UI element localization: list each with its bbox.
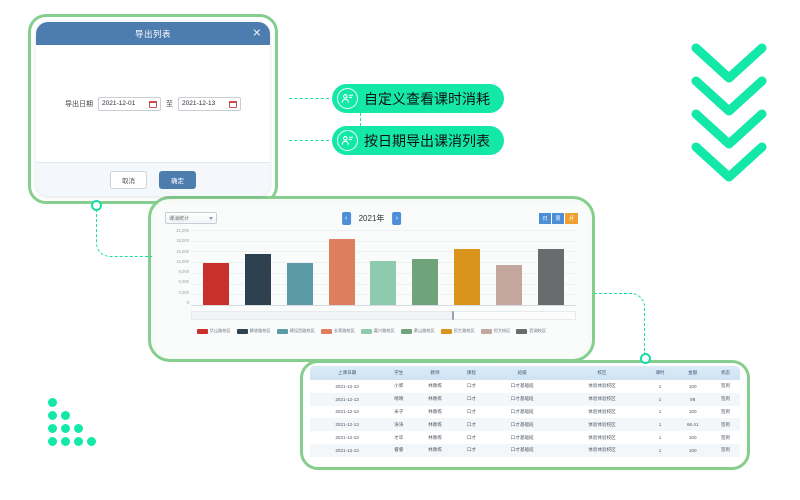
table-cell: 林教练 [413, 431, 457, 444]
table-cell: 1 [646, 380, 675, 393]
legend-item[interactable]: 黄山路校区 [401, 328, 435, 334]
prev-year-button[interactable]: ‹ [342, 212, 351, 225]
table-cell: 才华 [384, 431, 413, 444]
table-cell: 2021-12-13 [310, 418, 384, 431]
chevron-decoration-group [686, 38, 772, 188]
table-column-header[interactable]: 教师 [413, 366, 457, 380]
table-column-header[interactable]: 学生 [384, 366, 413, 380]
y-axis-tick: 3,000 [179, 291, 189, 295]
legend-label: 民生路校区 [454, 328, 475, 334]
y-axis-tick: 0 [187, 301, 189, 305]
year-navigator: ‹ 2021年 › [342, 212, 402, 225]
chart-grid [191, 230, 576, 306]
legend-item[interactable]: 建设西路校区 [277, 328, 315, 334]
callout-pill-custom-view[interactable]: 自定义查看课时消耗 [332, 84, 504, 113]
table-cell: 涛涛 [384, 418, 413, 431]
y-axis: 21,00018,00015,00012,0009,0006,0003,0000 [165, 230, 189, 306]
table-cell: 体验体验校区 [558, 393, 645, 406]
table-cell: 睿睿 [384, 444, 413, 457]
legend-item[interactable]: 民生路校区 [441, 328, 475, 334]
callout-pill-label: 按日期导出课消列表 [364, 131, 490, 151]
table-column-header[interactable]: 课程 [457, 366, 486, 380]
chevron-down-icon [696, 147, 762, 177]
table-cell: 口才基础班 [486, 444, 559, 457]
period-toggle-group: 日周月 [539, 213, 578, 224]
table-row[interactable]: 2021-12-13睿睿林教练口才口才基础班体验体验校区1100签到 [310, 444, 740, 457]
table-cell: 100 [675, 380, 711, 393]
start-date-value: 2021-12-01 [102, 100, 149, 107]
calendar-icon [149, 100, 157, 108]
legend-label: 恒大校区 [494, 328, 511, 334]
y-axis-tick: 18,000 [176, 239, 189, 243]
period-toggle-2[interactable]: 月 [565, 213, 578, 224]
table-cell: 体验体验校区 [558, 431, 645, 444]
bar[interactable] [287, 263, 313, 306]
table-column-header[interactable]: 状态 [711, 366, 740, 380]
bar[interactable] [329, 239, 355, 305]
table-cell: 2021-12-13 [310, 393, 384, 406]
table-cell: 口才 [457, 380, 486, 393]
dialog-title: 导出列表 [135, 28, 171, 40]
table-cell: 口才基础班 [486, 418, 559, 431]
chart-legend: 华山路校区解放路校区建设西路校区长青路校区嘉兴路校区黄山路校区民生路校区恒大校区… [165, 328, 578, 334]
table-row[interactable]: 2021-12-13涛涛林教练口才口才基础班体验体验校区166.41签到 [310, 418, 740, 431]
legend-label: 嘉兴路校区 [374, 328, 395, 334]
chart-filter-select[interactable]: 课消统计 [165, 212, 217, 224]
export-date-row: 导出日期 2021-12-01 至 2021-12-13 [65, 97, 241, 111]
legend-swatch [361, 329, 372, 334]
table-cell: 口才 [457, 393, 486, 406]
connector-path-dialog [96, 211, 152, 257]
y-axis-tick: 15,000 [176, 250, 189, 254]
y-axis-tick: 12,000 [176, 260, 189, 264]
table-cell: 签到 [711, 431, 740, 444]
table-cell: 2021-12-13 [310, 380, 384, 393]
bar[interactable] [412, 259, 438, 305]
table-cell: 2021-12-13 [310, 444, 384, 457]
cancel-button[interactable]: 取消 [110, 171, 147, 189]
table-cell: 米子 [384, 406, 413, 419]
table-cell: 林教练 [413, 418, 457, 431]
table-cell: 体验体验校区 [558, 444, 645, 457]
table-cell: 林教练 [413, 393, 457, 406]
dialog-footer: 取消 确定 [36, 162, 270, 196]
legend-item[interactable]: 华山路校区 [197, 328, 231, 334]
connector-dot-table [640, 353, 651, 364]
legend-swatch [516, 329, 527, 334]
table-cell: 98 [675, 393, 711, 406]
chevron-down-icon [209, 217, 213, 220]
callout-connector-mid [360, 113, 361, 126]
close-icon[interactable]: ✕ [252, 28, 262, 39]
table-row[interactable]: 2021-12-13才华林教练口才口才基础班体验体验校区1100签到 [310, 431, 740, 444]
bar[interactable] [245, 254, 271, 305]
legend-label: 华山路校区 [210, 328, 231, 334]
bar[interactable] [203, 263, 229, 305]
bar[interactable] [496, 265, 522, 305]
y-axis-tick: 9,000 [179, 270, 189, 274]
chevron-down-icon [696, 48, 762, 78]
legend-label: 黄山路校区 [414, 328, 435, 334]
person-list-icon [337, 130, 358, 151]
export-date-label: 导出日期 [65, 99, 93, 109]
table-cell: 口才基础班 [486, 393, 559, 406]
connector-dot-dialog [91, 200, 102, 211]
chevron-down-icon [696, 114, 762, 144]
calendar-icon [229, 100, 237, 108]
table-cell: 小郭 [384, 380, 413, 393]
table-cell: 口才 [457, 418, 486, 431]
table-row[interactable]: 2021-12-13米子林教练口才口才基础班体验体验校区1100签到 [310, 406, 740, 419]
table-cell: 林教练 [413, 444, 457, 457]
legend-swatch [441, 329, 452, 334]
period-toggle-0[interactable]: 日 [539, 213, 552, 224]
connector-path-table [594, 293, 645, 353]
chevron-down-icon [696, 81, 762, 111]
callout-pill-label: 自定义查看课时消耗 [364, 89, 490, 109]
chart-datazoom-slider[interactable] [191, 311, 576, 320]
export-list-dialog: 导出列表 ✕ 导出日期 2021-12-01 至 2021-12-13 取消 确… [36, 22, 270, 196]
next-year-button[interactable]: › [392, 212, 401, 225]
table-column-header[interactable]: 班级 [486, 366, 559, 380]
table-cell: 签到 [711, 444, 740, 457]
class-consumption-table: 上课日期学生教师课程班级校区课时金额状态 2021-12-13小郭林教练口才口才… [310, 366, 740, 464]
table-row[interactable]: 2021-12-13小郭林教练口才口才基础班体验体验校区1100签到 [310, 380, 740, 393]
table-cell: 100 [675, 444, 711, 457]
table-cell: 口才 [457, 406, 486, 419]
table-cell: 体验体验校区 [558, 418, 645, 431]
table-cell: 口才 [457, 431, 486, 444]
bar[interactable] [370, 261, 396, 305]
table-cell: 1 [646, 393, 675, 406]
table-column-header[interactable]: 课时 [646, 366, 675, 380]
legend-item[interactable]: 西湖校区 [516, 328, 546, 334]
chart-panel: 课消统计 ‹ 2021年 › 日周月 21,00018,00015,00012,… [155, 203, 588, 355]
start-date-input[interactable]: 2021-12-01 [98, 97, 161, 111]
person-list-icon [337, 88, 358, 109]
table-cell: 66.41 [675, 418, 711, 431]
datazoom-handle[interactable] [452, 311, 454, 320]
table-cell: 口才基础班 [486, 380, 559, 393]
legend-swatch [481, 329, 492, 334]
datazoom-fill [192, 312, 452, 319]
table-cell: 林教练 [413, 380, 457, 393]
year-label: 2021年 [359, 213, 385, 224]
table-column-header[interactable]: 金额 [675, 366, 711, 380]
table-cell: 2021-12-13 [310, 431, 384, 444]
table-cell: 签到 [711, 380, 740, 393]
table-header-row: 上课日期学生教师课程班级校区课时金额状态 [310, 366, 740, 380]
legend-swatch [321, 329, 332, 334]
table-cell: 100 [675, 406, 711, 419]
bar-series [191, 230, 576, 305]
legend-item[interactable]: 嘉兴路校区 [361, 328, 395, 334]
table-column-header[interactable]: 上课日期 [310, 366, 384, 380]
table-body: 2021-12-13小郭林教练口才口才基础班体验体验校区1100签到2021-1… [310, 380, 740, 457]
legend-item[interactable]: 长青路校区 [321, 328, 355, 334]
callout-connector-2 [289, 140, 329, 141]
callout-pill-export-by-date[interactable]: 按日期导出课消列表 [332, 126, 504, 155]
end-date-value: 2021-12-13 [182, 100, 229, 107]
table-cell: 1 [646, 406, 675, 419]
table-cell: 体验体验校区 [558, 406, 645, 419]
table-cell: 1 [646, 418, 675, 431]
table-cell: 林教练 [413, 406, 457, 419]
legend-swatch [401, 329, 412, 334]
table-cell: 2021-12-13 [310, 406, 384, 419]
legend-swatch [277, 329, 288, 334]
bar[interactable] [538, 249, 564, 305]
table-row[interactable]: 2021-12-13晴晴林教练口才口才基础班体验体验校区198签到 [310, 393, 740, 406]
y-axis-tick: 6,000 [179, 280, 189, 284]
legend-item[interactable]: 解放路校区 [237, 328, 271, 334]
dialog-titlebar: 导出列表 ✕ [36, 22, 270, 45]
table-cell: 口才基础班 [486, 406, 559, 419]
table-cell: 晴晴 [384, 393, 413, 406]
period-toggle-1[interactable]: 周 [552, 213, 565, 224]
dot-decoration-group [46, 396, 98, 448]
legend-label: 西湖校区 [529, 328, 546, 334]
table-cell: 1 [646, 444, 675, 457]
table-cell: 100 [675, 431, 711, 444]
legend-swatch [197, 329, 208, 334]
table-cell: 口才 [457, 444, 486, 457]
chart-plot-area: 21,00018,00015,00012,0009,0006,0003,0000… [165, 230, 578, 318]
table-cell: 体验体验校区 [558, 380, 645, 393]
legend-label: 建设西路校区 [290, 328, 315, 334]
legend-label: 长青路校区 [334, 328, 355, 334]
date-separator: 至 [166, 99, 173, 109]
legend-swatch [237, 329, 248, 334]
dialog-body: 导出日期 2021-12-01 至 2021-12-13 [36, 45, 270, 162]
bar[interactable] [454, 249, 480, 305]
table-cell: 签到 [711, 418, 740, 431]
table-column-header[interactable]: 校区 [558, 366, 645, 380]
table-cell: 签到 [711, 406, 740, 419]
legend-item[interactable]: 恒大校区 [481, 328, 511, 334]
confirm-button[interactable]: 确定 [159, 171, 196, 189]
chart-filter-value: 课消统计 [169, 215, 189, 222]
end-date-input[interactable]: 2021-12-13 [178, 97, 241, 111]
callout-connector-1 [289, 98, 329, 99]
y-axis-tick: 21,000 [176, 229, 189, 233]
chart-toolbar: 课消统计 ‹ 2021年 › 日周月 [165, 211, 578, 225]
table-cell: 1 [646, 431, 675, 444]
legend-label: 解放路校区 [250, 328, 271, 334]
table-cell: 签到 [711, 393, 740, 406]
table-cell: 口才基础班 [486, 431, 559, 444]
